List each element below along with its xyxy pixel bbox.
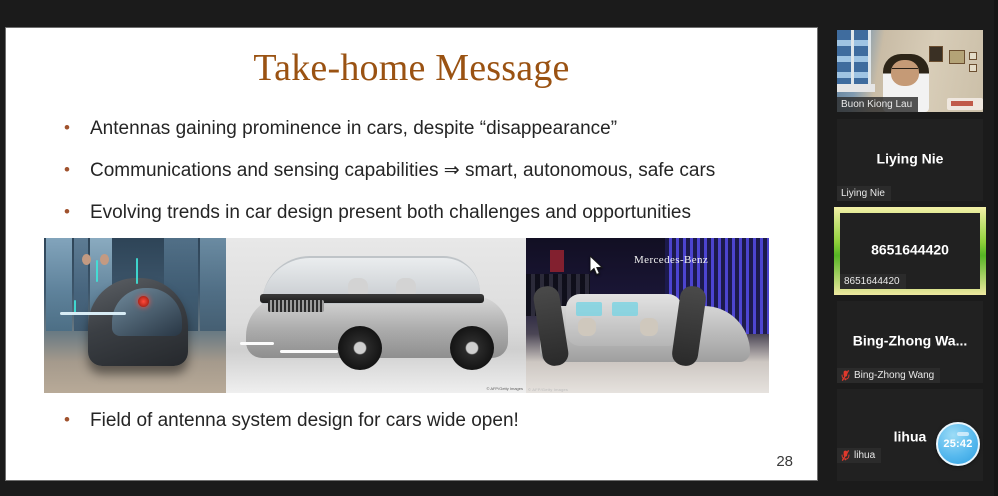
participant-tile-buon-kiong-lau[interactable]: Buon Kiong Lau: [837, 30, 983, 112]
presentation-slide[interactable]: Take-home Message • Antennas gaining pro…: [5, 27, 818, 481]
timer-value: 25:42: [943, 438, 972, 450]
participant-name: 8651644420: [844, 276, 900, 287]
bullet-item: • Field of antenna system design for car…: [64, 410, 804, 432]
active-speaker-highlight: 8651644420 8651644420: [834, 207, 986, 295]
participant-display-name: Liying Nie: [837, 150, 983, 166]
participant-tile-8651644420[interactable]: 8651644420 8651644420: [837, 210, 983, 292]
participant-display-name: Bing-Zhong Wa...: [837, 332, 983, 348]
image-credit: © AFP/Getty Images: [528, 387, 568, 392]
image-credit: © AFP/Getty Images: [486, 386, 523, 391]
participant-sidebar[interactable]: Buon Kiong Lau Liying Nie Liying Nie 865…: [822, 0, 998, 496]
bullet-text: Antennas gaining prominence in cars, des…: [90, 118, 804, 140]
bullet-item: • Communications and sensing capabilitie…: [64, 160, 804, 182]
microphone-muted-icon: [841, 370, 850, 381]
bullet-item: • Antennas gaining prominence in cars, d…: [64, 118, 804, 140]
bullet-text: Communications and sensing capabilities …: [90, 160, 804, 182]
participant-name: Bing-Zhong Wang: [854, 370, 934, 381]
bullet-text: Field of antenna system design for cars …: [90, 410, 804, 432]
slide-page-number: 28: [776, 453, 793, 470]
participant-nameplate: Bing-Zhong Wang: [837, 368, 940, 383]
page-title: Take-home Message: [6, 46, 817, 90]
slide-image-silver-concept-car: © AFP/Getty Images: [226, 238, 526, 393]
participant-nameplate: Buon Kiong Lau: [837, 97, 918, 112]
meeting-window: Take-home Message • Antennas gaining pro…: [0, 0, 998, 496]
cloud-icon: [957, 432, 969, 436]
shared-screen-stage[interactable]: Take-home Message • Antennas gaining pro…: [0, 0, 822, 496]
participant-tile-bing-zhong-wang[interactable]: Bing-Zhong Wa... Bing-Zhong Wang: [837, 301, 983, 383]
participant-name: Liying Nie: [841, 188, 885, 199]
bullet-marker-icon: •: [64, 118, 90, 138]
participant-tile-liying-nie[interactable]: Liying Nie Liying Nie: [837, 119, 983, 201]
bullet-item: • Evolving trends in car design present …: [64, 202, 804, 224]
bullet-marker-icon: •: [64, 410, 90, 430]
participant-nameplate: lihua: [837, 448, 881, 463]
participant-name: lihua: [854, 450, 875, 461]
participant-display-name: 8651644420: [840, 241, 980, 257]
microphone-muted-icon: [841, 450, 850, 461]
slide-image-mercedes-show-floor: Mercedes-Benz © AFP/Getty Images: [526, 238, 769, 393]
bullet-text: Evolving trends in car design present bo…: [90, 202, 804, 224]
mercedes-benz-logo-text: Mercedes-Benz: [634, 254, 708, 266]
participant-name: Buon Kiong Lau: [841, 99, 912, 110]
meeting-timer-badge[interactable]: 25:42: [936, 422, 980, 466]
booth-sign: [550, 250, 564, 272]
slide-image-strip: © AFP/Getty Images Mercedes-Benz © AFP/G…: [44, 238, 769, 393]
participant-nameplate: Liying Nie: [837, 186, 891, 201]
bullet-marker-icon: •: [64, 202, 90, 222]
participant-nameplate: 8651644420: [840, 274, 906, 289]
slide-image-autonomous-pod: [44, 238, 226, 393]
sidebar-scrollbar[interactable]: [994, 0, 998, 496]
bullet-marker-icon: •: [64, 160, 90, 180]
